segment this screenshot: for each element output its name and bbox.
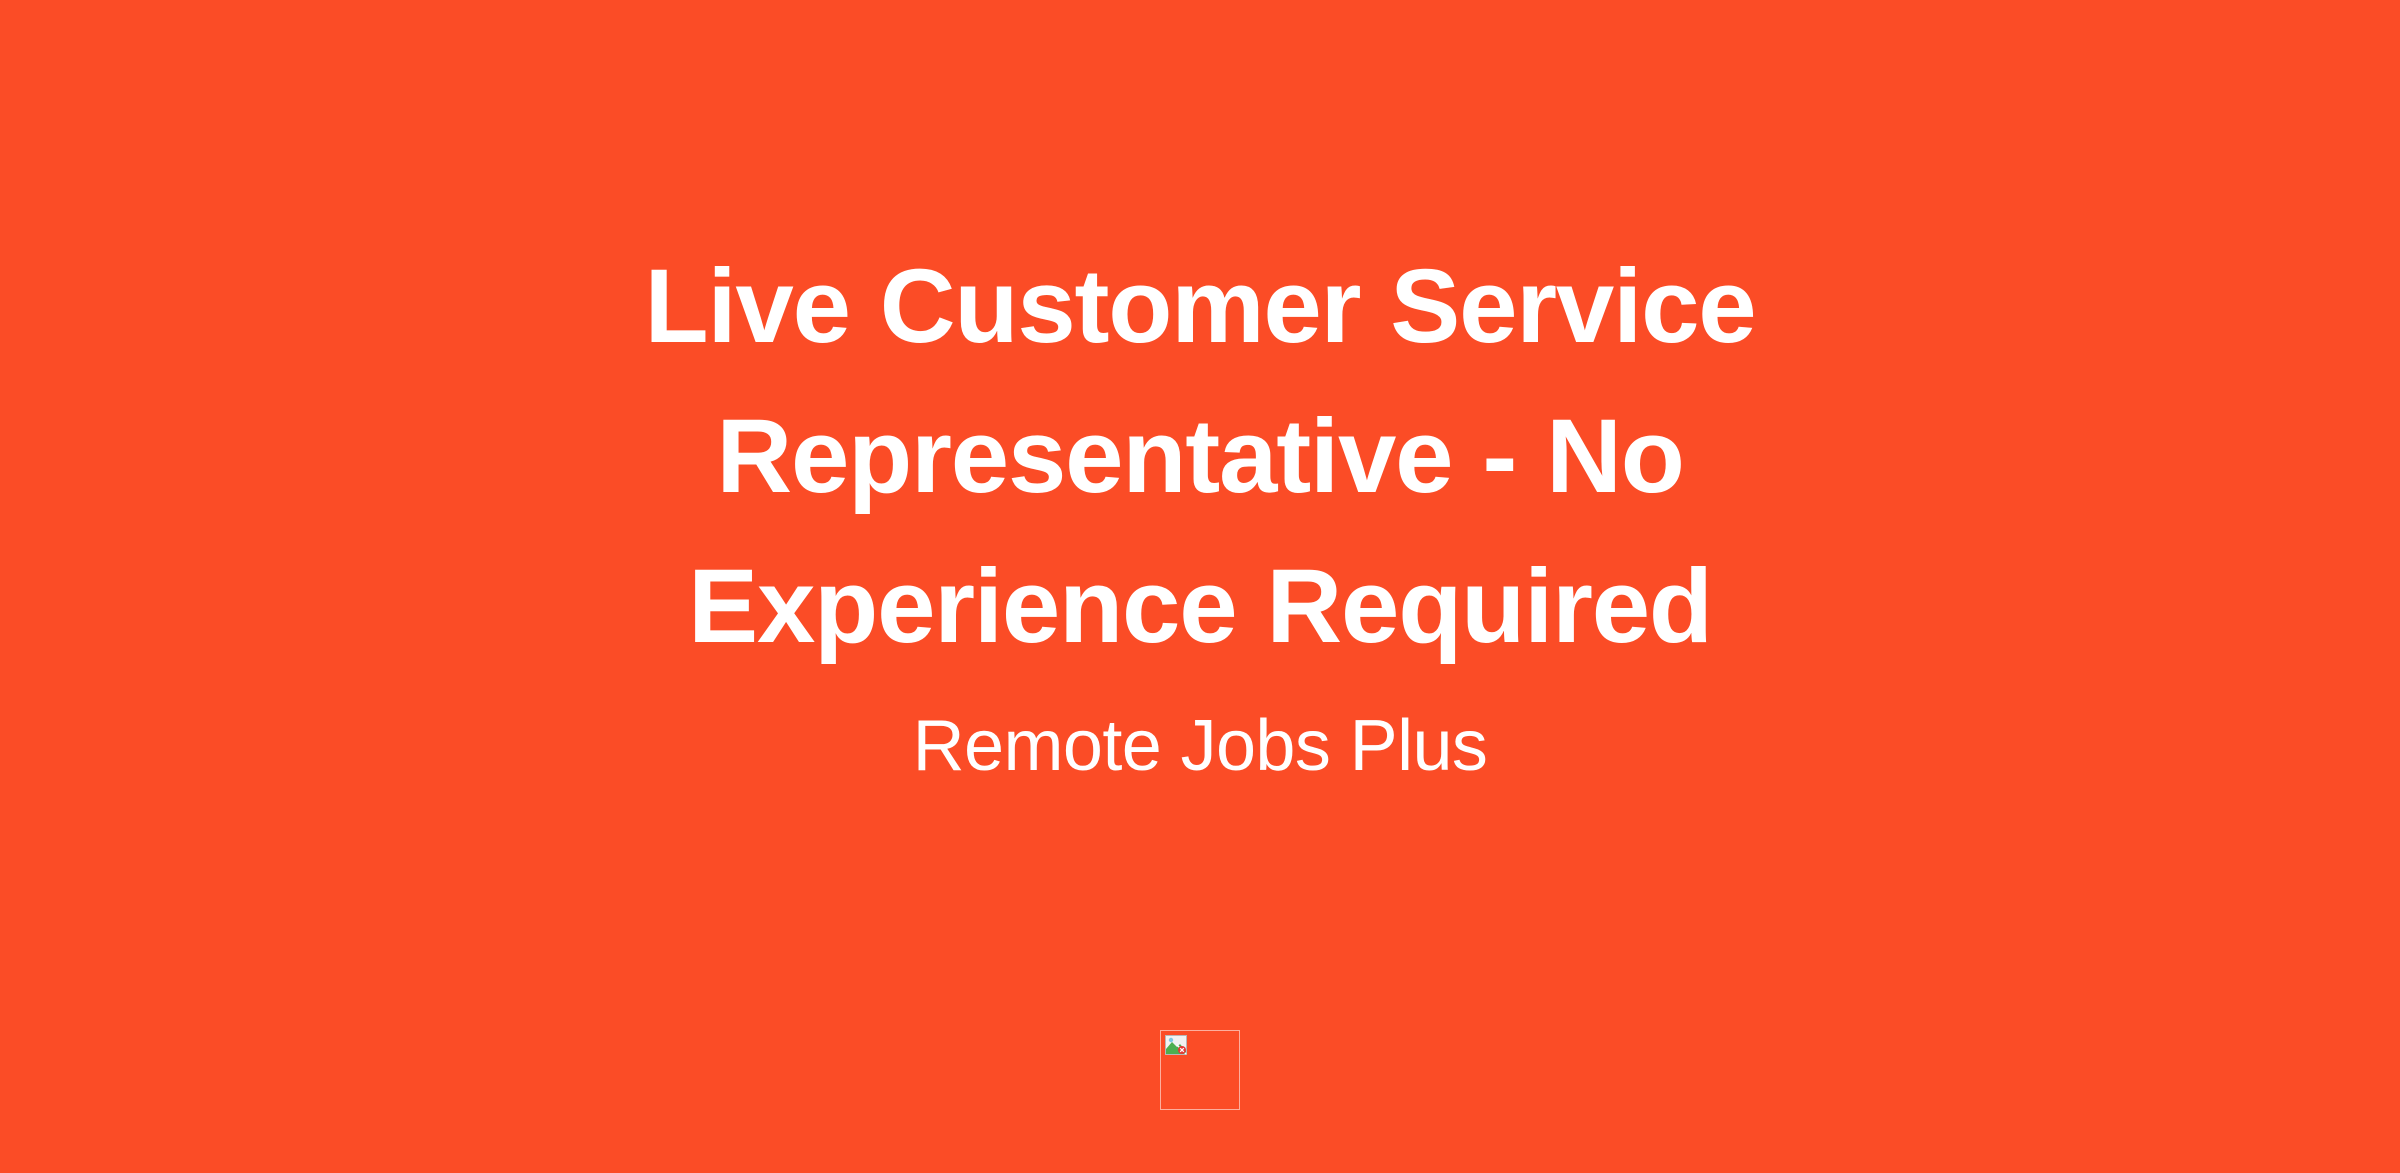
page-subtitle: Remote Jobs Plus xyxy=(590,704,1810,788)
page-root: Live Customer Service Representative - N… xyxy=(0,0,2400,1173)
media-slot xyxy=(1160,1030,1240,1110)
broken-image-icon xyxy=(1165,1035,1187,1055)
hero-section: Live Customer Service Representative - N… xyxy=(590,232,1810,788)
page-title: Live Customer Service Representative - N… xyxy=(590,232,1810,682)
broken-image-placeholder[interactable] xyxy=(1160,1030,1240,1110)
